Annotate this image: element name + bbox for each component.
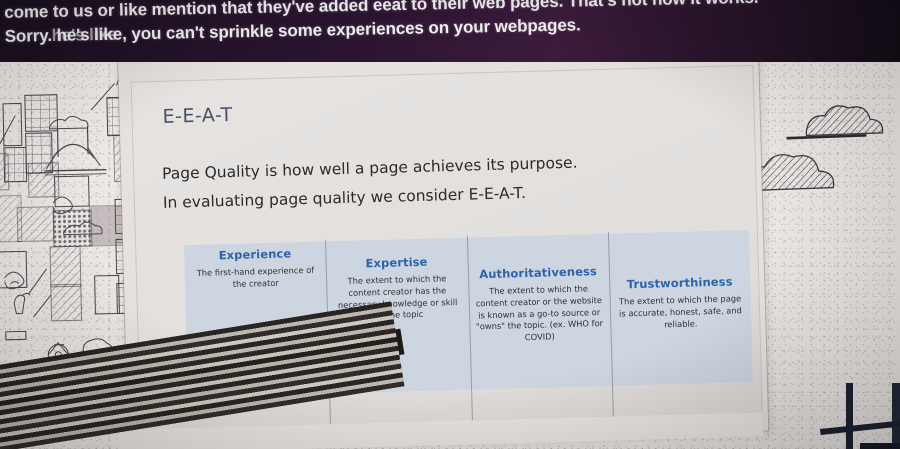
column-heading: Experience bbox=[191, 246, 319, 263]
photo-of-conference-screen: E-E-A-T Page Quality is how well a page … bbox=[0, 0, 900, 449]
slide-body-text: Page Quality is how well a page achieves… bbox=[162, 150, 603, 220]
live-caption-bar: come to us or like mention that they've … bbox=[0, 0, 900, 62]
column-authoritativeness: Authoritativeness The extent to which th… bbox=[466, 234, 611, 390]
column-trustworthiness: Trustworthiness The extent to which the … bbox=[608, 230, 753, 386]
slide-title: E-E-A-T bbox=[162, 104, 233, 128]
column-description: The first-hand experience of the creator bbox=[192, 265, 320, 292]
cloud-icon-upper bbox=[786, 104, 883, 138]
caption-ghosted-words: he's like bbox=[56, 23, 122, 48]
column-description: The extent to which the page is accurate… bbox=[616, 293, 744, 332]
caption-line-2-prefix: Sorry. bbox=[5, 26, 57, 46]
column-heading: Authoritativeness bbox=[474, 264, 602, 281]
column-heading: Expertise bbox=[333, 254, 461, 271]
live-caption-text: come to us or like mention that they've … bbox=[0, 0, 900, 49]
column-heading: Trustworthiness bbox=[616, 274, 744, 291]
metal-guard-rail bbox=[760, 383, 900, 449]
column-description: The extent to which the content creator … bbox=[475, 283, 604, 345]
